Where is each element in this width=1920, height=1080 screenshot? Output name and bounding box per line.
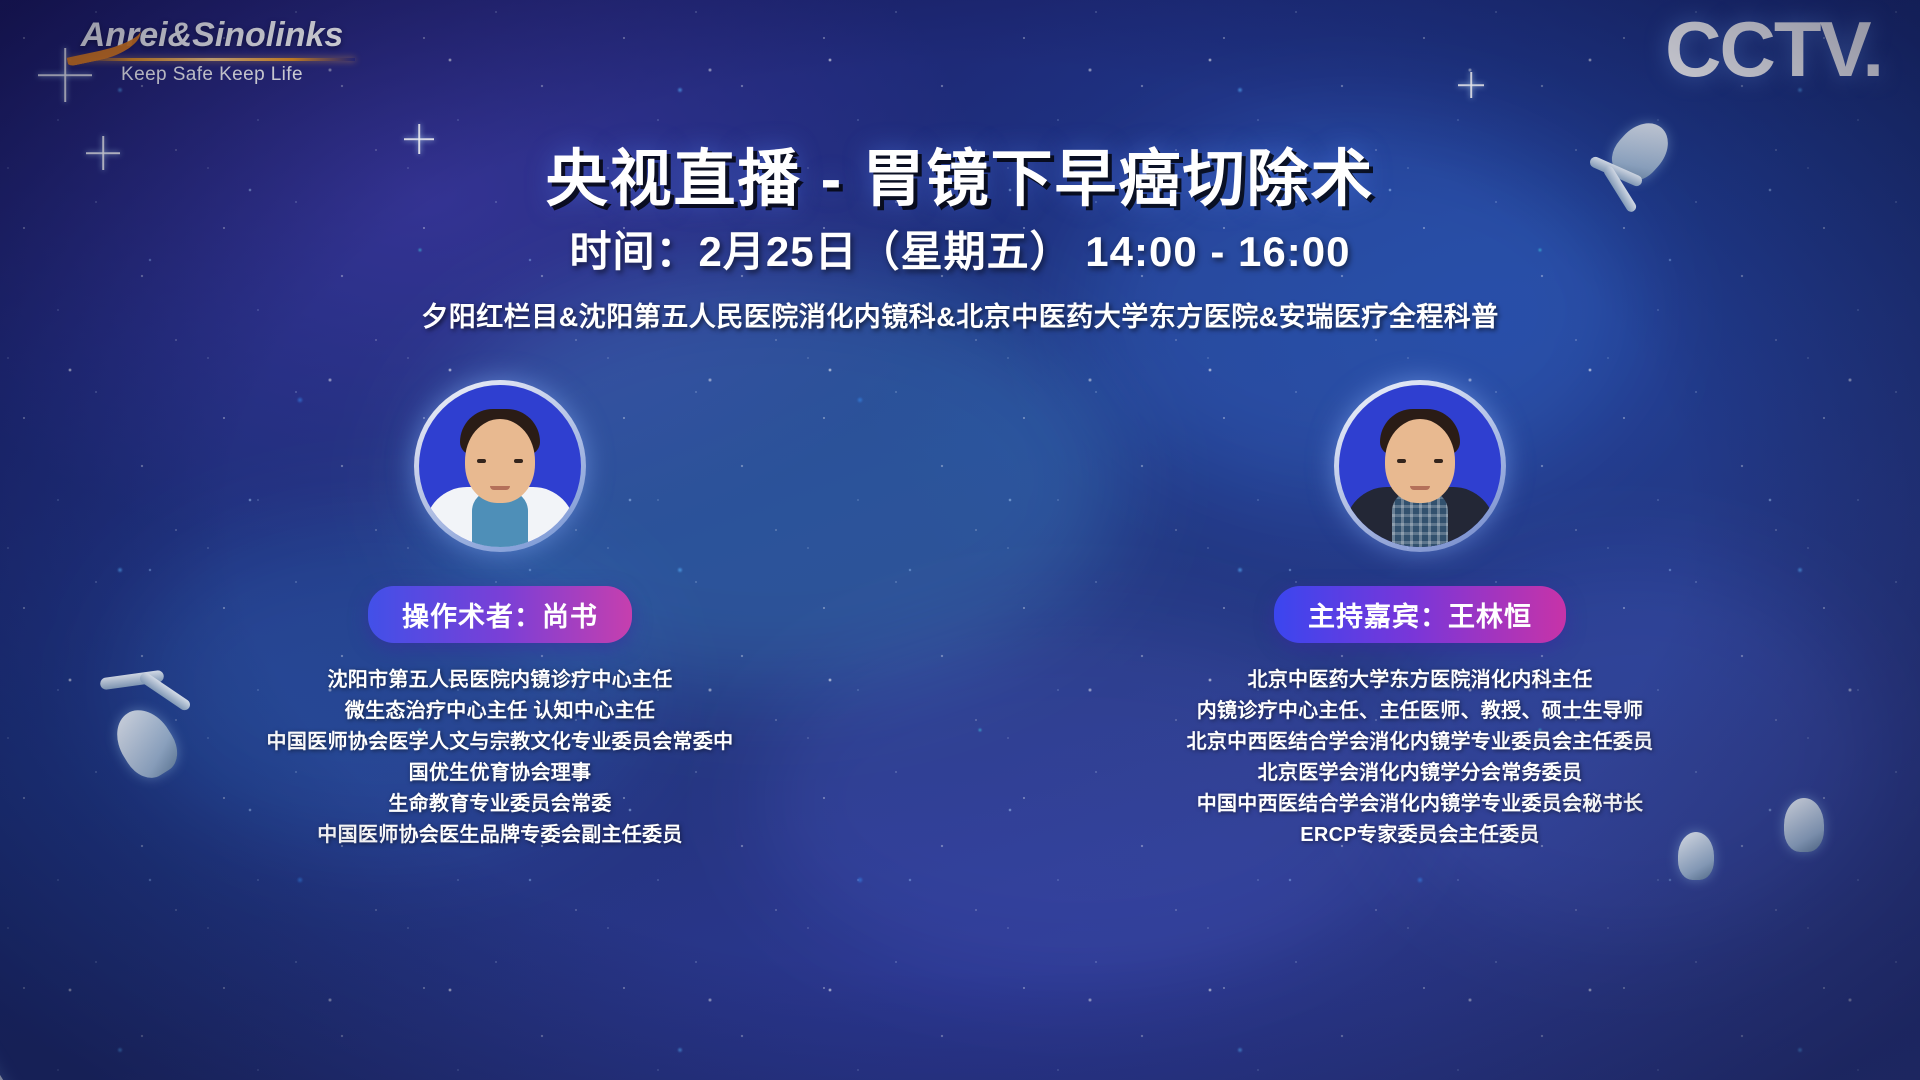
credential-line: 内镜诊疗中心主任、主任医师、教授、硕士生导师 bbox=[1090, 696, 1750, 727]
credential-line: 国优生优育协会理事 bbox=[170, 758, 830, 789]
credential-line: 北京中西医结合学会消化内镜学专业委员会主任委员 bbox=[1090, 727, 1750, 758]
avatar bbox=[419, 385, 581, 547]
portrait-mouth bbox=[490, 486, 510, 490]
portrait-eye-right bbox=[514, 459, 523, 463]
credential-line: 中国医师协会医学人文与宗教文化专业委员会常委中 bbox=[170, 727, 830, 758]
credential-line: 中国医师协会医生品牌专委会副主任委员 bbox=[170, 820, 830, 851]
credential-line: ERCP专家委员会主任委员 bbox=[1090, 820, 1750, 851]
page-title: 央视直播 - 胃镜下早癌切除术 bbox=[0, 128, 1920, 218]
portrait-eye-left bbox=[1397, 459, 1406, 463]
speaker-card-operator: 操作术者：尚书 沈阳市第五人民医院内镜诊疗中心主任 微生态治疗中心主任 认知中心… bbox=[170, 380, 830, 851]
brand-tagline: Keep Safe Keep Life bbox=[62, 64, 362, 86]
portrait-face bbox=[465, 419, 535, 503]
portrait-eye-right bbox=[1434, 459, 1443, 463]
credential-line: 沈阳市第五人民医院内镜诊疗中心主任 bbox=[170, 665, 830, 696]
speaker-credentials-operator: 沈阳市第五人民医院内镜诊疗中心主任 微生态治疗中心主任 认知中心主任 中国医师协… bbox=[170, 665, 830, 851]
avatar-ring bbox=[1334, 380, 1506, 552]
credential-line: 生命教育专业委员会常委 bbox=[170, 789, 830, 820]
credential-line: 北京医学会消化内镜学分会常务委员 bbox=[1090, 758, 1750, 789]
poster-canvas: Anrei&Sinolinks Keep Safe Keep Life CCTV… bbox=[0, 0, 1920, 1080]
brand-logo: Anrei&Sinolinks Keep Safe Keep Life bbox=[62, 18, 362, 86]
avatar-ring bbox=[414, 380, 586, 552]
speaker-badge-host: 主持嘉宾：王林恒 bbox=[1274, 586, 1566, 643]
event-organizers: 夕阳红栏目&沈阳第五人民医院消化内镜科&北京中医药大学东方医院&安瑞医疗全程科普 bbox=[0, 295, 1920, 334]
event-datetime: 时间：2月25日（星期五） 14:00 - 16:00 bbox=[0, 218, 1920, 279]
logo-divider bbox=[69, 58, 355, 61]
sparkle-icon bbox=[1458, 72, 1484, 98]
credential-line: 微生态治疗中心主任 认知中心主任 bbox=[170, 696, 830, 727]
portrait-mouth bbox=[1410, 486, 1430, 490]
speaker-badge-operator: 操作术者：尚书 bbox=[368, 586, 632, 643]
portrait-face bbox=[1385, 419, 1455, 503]
speaker-card-host: 主持嘉宾：王林恒 北京中医药大学东方医院消化内科主任 内镜诊疗中心主任、主任医师… bbox=[1090, 380, 1750, 851]
credential-line: 北京中医药大学东方医院消化内科主任 bbox=[1090, 665, 1750, 696]
cctv-logo: CCTV. bbox=[1665, 10, 1882, 88]
credential-line: 中国中西医结合学会消化内镜学专业委员会秘书长 bbox=[1090, 789, 1750, 820]
portrait-eye-left bbox=[477, 459, 486, 463]
avatar bbox=[1339, 385, 1501, 547]
speaker-credentials-host: 北京中医药大学东方医院消化内科主任 内镜诊疗中心主任、主任医师、教授、硕士生导师… bbox=[1090, 665, 1750, 851]
